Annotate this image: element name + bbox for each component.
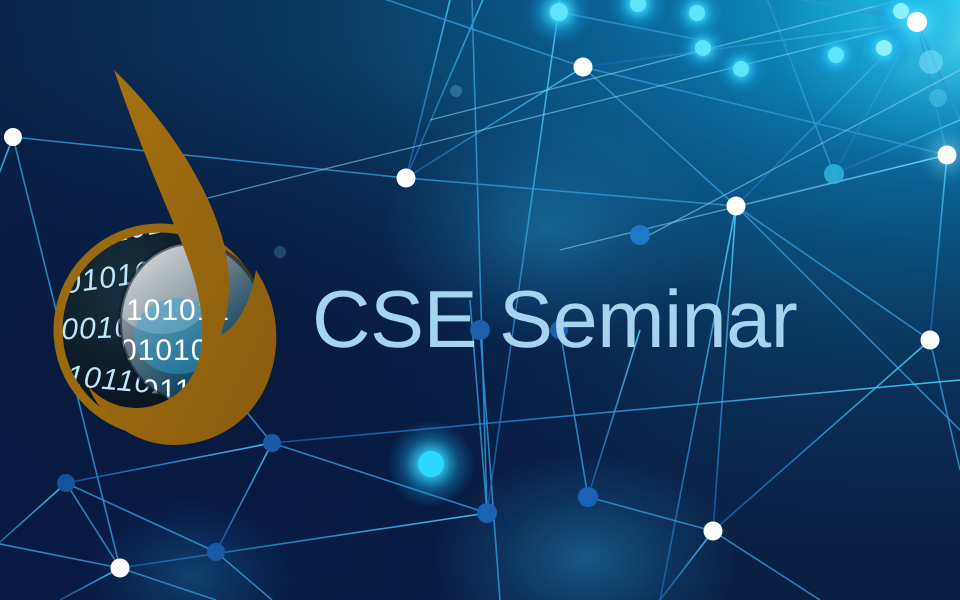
cse-seminar-banner: 11010110 10101011 10010101 01011011 010.…: [0, 0, 960, 600]
cse-flame-binary-globe-logo: 11010110 10101011 10010101 01011011 010.…: [42, 48, 312, 448]
node-glows: [387, 0, 960, 508]
page-title: CSE Seminar: [312, 270, 797, 370]
